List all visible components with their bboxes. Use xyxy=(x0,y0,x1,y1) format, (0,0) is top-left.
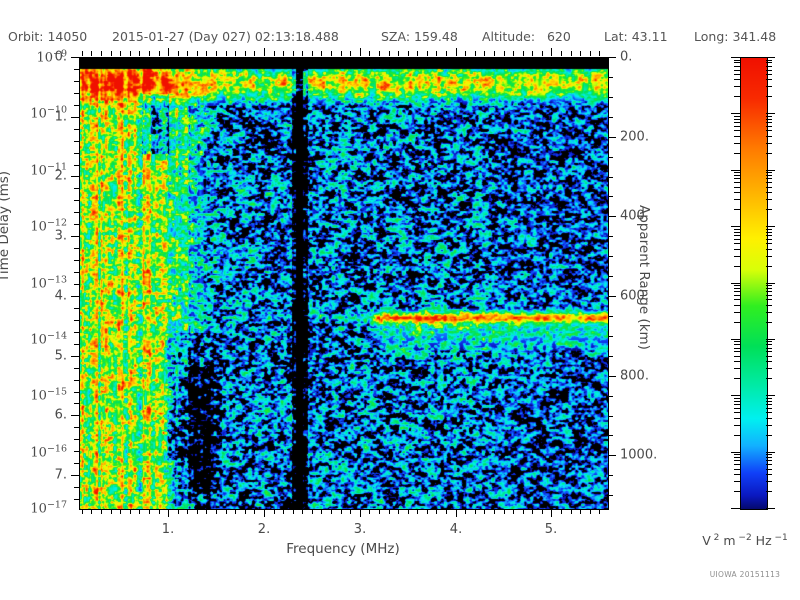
colorbar-tick-minor xyxy=(734,60,740,61)
colorbar-tick-minor xyxy=(734,454,740,455)
x-tick-minor-top xyxy=(82,51,83,56)
colorbar-tick-minor xyxy=(734,288,740,289)
y-tick-label-left: 5. xyxy=(55,349,67,364)
colorbar-tick-minor xyxy=(766,408,772,409)
y-tick-minor-left xyxy=(74,224,79,225)
x-tick-minor-top xyxy=(91,51,92,56)
colorbar-tick-minor xyxy=(734,425,740,426)
ionogram-page: Orbit: 14050 2015-01-27 (Day 027) 02:13:… xyxy=(0,0,800,600)
x-tick-major-top xyxy=(360,48,361,56)
x-tick-minor-top xyxy=(580,51,581,56)
colorbar-tick-minor xyxy=(734,66,740,67)
colorbar-tick-minor xyxy=(734,136,740,137)
colorbar-tick-minor xyxy=(766,378,772,379)
x-tick-minor-top xyxy=(235,51,236,56)
colorbar-tick-major xyxy=(731,395,740,396)
x-tick-minor xyxy=(427,509,428,514)
colorbar-tick-major xyxy=(731,170,740,171)
x-tick-minor-top xyxy=(274,51,275,56)
colorbar-tick-minor xyxy=(734,295,740,296)
y-tick-minor-left xyxy=(74,451,79,452)
colorbar-tick-minor xyxy=(766,305,772,306)
colorbar-tick-label: 10−16 xyxy=(30,443,67,460)
x-tick-major xyxy=(168,509,169,517)
x-tick-minor-top xyxy=(187,51,188,56)
colorbar-tick-minor xyxy=(734,175,740,176)
y-tick-minor-right xyxy=(608,77,613,78)
y-axis-title-right: Apparent Range (km) xyxy=(636,205,652,350)
y-tick-major-left xyxy=(71,236,79,237)
x-tick-minor xyxy=(226,509,227,514)
y-tick-minor-left xyxy=(74,141,79,142)
x-tick-minor-top xyxy=(350,51,351,56)
x-tick-label: 1. xyxy=(162,522,174,537)
colorbar-tick-major xyxy=(766,339,775,340)
x-tick-minor-top xyxy=(494,51,495,56)
y-tick-minor-left xyxy=(74,392,79,393)
colorbar-tick-minor xyxy=(766,229,772,230)
x-tick-minor xyxy=(197,509,198,514)
header-datetime: 2015-01-27 (Day 027) 02:13:18.488 xyxy=(112,29,339,44)
colorbar-tick-minor xyxy=(766,401,772,402)
x-tick-minor xyxy=(120,509,121,514)
colorbar-tick-minor xyxy=(734,312,740,313)
x-tick-minor-top xyxy=(475,51,476,56)
x-tick-minor xyxy=(312,509,313,514)
colorbar-tick-major xyxy=(766,57,775,58)
colorbar-tick-major xyxy=(731,283,740,284)
colorbar-tick-minor xyxy=(766,209,772,210)
y-tick-minor-left xyxy=(74,332,79,333)
colorbar-tick-minor xyxy=(766,425,772,426)
x-tick-minor-top xyxy=(245,51,246,56)
x-tick-minor xyxy=(408,509,409,514)
x-tick-major-top xyxy=(264,48,265,56)
y-tick-minor-right xyxy=(608,157,613,158)
y-tick-minor-right xyxy=(608,416,613,417)
colorbar-tick-minor xyxy=(734,435,740,436)
header-latitude: Lat: 43.11 xyxy=(604,29,668,44)
colorbar-tick-minor xyxy=(734,239,740,240)
x-tick-minor-top xyxy=(571,51,572,56)
x-tick-minor-top xyxy=(331,51,332,56)
x-tick-minor xyxy=(350,509,351,514)
x-tick-minor xyxy=(274,509,275,514)
colorbar-tick-minor xyxy=(766,175,772,176)
y-tick-minor-left xyxy=(74,427,79,428)
x-tick-minor-top xyxy=(417,51,418,56)
y-tick-minor-right xyxy=(608,475,613,476)
colorbar-tick-minor xyxy=(766,435,772,436)
colorbar-tick-label: 10−9 xyxy=(36,48,67,65)
y-tick-minor-left xyxy=(74,153,79,154)
colorbar-tick-minor xyxy=(734,199,740,200)
colorbar-tick-minor xyxy=(766,469,772,470)
ionogram-plot-area xyxy=(79,57,609,510)
colorbar-tick-minor xyxy=(734,398,740,399)
colorbar-tick-minor xyxy=(734,62,740,63)
colorbar-tick-minor xyxy=(766,291,772,292)
colorbar-tick-minor xyxy=(766,348,772,349)
x-tick-minor-top xyxy=(302,51,303,56)
y-tick-minor-left xyxy=(74,212,79,213)
colorbar-tick-minor xyxy=(766,62,772,63)
colorbar-tick-minor xyxy=(734,249,740,250)
colorbar-tick-minor xyxy=(766,235,772,236)
x-tick-minor xyxy=(484,509,485,514)
colorbar-tick-minor xyxy=(766,322,772,323)
colorbar-tick-minor xyxy=(766,295,772,296)
header-longitude: Long: 341.48 xyxy=(694,29,776,44)
x-tick-minor xyxy=(111,509,112,514)
x-tick-minor xyxy=(599,509,600,514)
colorbar-tick-minor xyxy=(766,288,772,289)
colorbar-tick-minor xyxy=(766,285,772,286)
colorbar-tick-minor xyxy=(766,122,772,123)
colorbar-tick-minor xyxy=(734,341,740,342)
x-tick-minor xyxy=(417,509,418,514)
y-tick-minor-left xyxy=(74,499,79,500)
x-tick-label: 2. xyxy=(258,522,270,537)
y-tick-minor-left xyxy=(74,320,79,321)
y-tick-minor-right xyxy=(608,435,613,436)
x-tick-minor xyxy=(504,509,505,514)
x-tick-minor-top xyxy=(379,51,380,56)
colorbar xyxy=(740,57,768,510)
x-tick-minor-top xyxy=(436,51,437,56)
y-tick-minor-left xyxy=(74,81,79,82)
colorbar-tick-minor xyxy=(734,285,740,286)
colorbar-tick-minor xyxy=(734,322,740,323)
colorbar-tick-minor xyxy=(734,70,740,71)
x-tick-minor xyxy=(91,509,92,514)
colorbar-tick-minor xyxy=(734,126,740,127)
x-tick-minor-top xyxy=(120,51,121,56)
colorbar-tick-label: 10−11 xyxy=(30,161,67,178)
x-tick-minor xyxy=(446,509,447,514)
colorbar-tick-minor xyxy=(734,235,740,236)
x-tick-minor-top xyxy=(599,51,600,56)
y-tick-minor-right xyxy=(608,256,613,257)
y-tick-minor-right xyxy=(608,336,613,337)
colorbar-tick-minor xyxy=(734,209,740,210)
x-tick-minor-top xyxy=(111,51,112,56)
y-tick-minor-right xyxy=(608,97,613,98)
y-tick-minor-left xyxy=(74,188,79,189)
colorbar-tick-minor xyxy=(766,481,772,482)
colorbar-tick-minor xyxy=(734,464,740,465)
x-tick-minor-top xyxy=(149,51,150,56)
x-tick-minor-top xyxy=(321,51,322,56)
colorbar-tick-major xyxy=(731,226,740,227)
colorbar-tick-minor xyxy=(734,116,740,117)
x-tick-minor xyxy=(302,509,303,514)
colorbar-tick-minor xyxy=(734,229,740,230)
y-tick-minor-left xyxy=(74,380,79,381)
y-tick-major-left xyxy=(71,415,79,416)
x-tick-minor-top xyxy=(446,51,447,56)
colorbar-tick-major xyxy=(766,508,775,509)
y-tick-major-right xyxy=(608,455,616,456)
y-tick-label-right: 0. xyxy=(620,50,632,65)
x-tick-label: 5. xyxy=(545,522,557,537)
colorbar-tick-minor xyxy=(766,187,772,188)
y-tick-label-left: 7. xyxy=(55,468,67,483)
x-tick-minor xyxy=(149,509,150,514)
colorbar-tick-minor xyxy=(734,130,740,131)
x-tick-minor-top xyxy=(513,51,514,56)
colorbar-tick-minor xyxy=(766,344,772,345)
x-tick-minor-top xyxy=(197,51,198,56)
x-tick-minor xyxy=(571,509,572,514)
y-tick-minor-right xyxy=(608,396,613,397)
colorbar-tick-minor xyxy=(734,256,740,257)
y-tick-minor-left xyxy=(74,272,79,273)
y-tick-major-left xyxy=(71,176,79,177)
spectrogram-canvas xyxy=(80,58,608,509)
y-tick-minor-left xyxy=(74,248,79,249)
colorbar-tick-minor xyxy=(766,266,772,267)
y-tick-minor-left xyxy=(74,129,79,130)
colorbar-tick-minor xyxy=(734,291,740,292)
x-tick-minor xyxy=(475,509,476,514)
x-tick-minor-top xyxy=(216,51,217,56)
y-tick-minor-left xyxy=(74,260,79,261)
colorbar-tick-minor xyxy=(734,412,740,413)
colorbar-tick-minor xyxy=(734,474,740,475)
x-tick-minor-top xyxy=(254,51,255,56)
x-tick-minor xyxy=(494,509,495,514)
colorbar-tick-minor xyxy=(734,457,740,458)
colorbar-tick-minor xyxy=(734,404,740,405)
colorbar-tick-minor xyxy=(734,96,740,97)
x-tick-minor xyxy=(178,509,179,514)
colorbar-tick-minor xyxy=(766,172,772,173)
y-tick-minor-right xyxy=(608,236,613,237)
colorbar-tick-minor xyxy=(766,130,772,131)
x-tick-minor xyxy=(206,509,207,514)
colorbar-tick-minor xyxy=(766,256,772,257)
y-tick-label-right: 1000. xyxy=(620,448,657,463)
x-tick-minor-top xyxy=(369,51,370,56)
colorbar-tick-minor xyxy=(766,412,772,413)
x-tick-minor xyxy=(398,509,399,514)
x-tick-minor xyxy=(590,509,591,514)
y-tick-major-right xyxy=(608,376,616,377)
colorbar-tick-minor xyxy=(734,351,740,352)
x-tick-minor xyxy=(532,509,533,514)
unit-v: V 2 xyxy=(702,533,719,548)
x-tick-minor-top xyxy=(293,51,294,56)
y-tick-minor-right xyxy=(608,495,613,496)
y-tick-major-left xyxy=(71,57,79,58)
x-tick-minor xyxy=(369,509,370,514)
y-axis-title-left: Time Delay (ms) xyxy=(0,171,12,282)
colorbar-tick-minor xyxy=(766,361,772,362)
colorbar-tick-minor xyxy=(734,460,740,461)
colorbar-tick-minor xyxy=(766,116,772,117)
colorbar-tick-minor xyxy=(766,136,772,137)
x-tick-minor xyxy=(321,509,322,514)
x-tick-minor-top xyxy=(226,51,227,56)
x-tick-minor xyxy=(235,509,236,514)
colorbar-tick-minor xyxy=(734,178,740,179)
colorbar-tick-minor xyxy=(766,356,772,357)
y-tick-major-right xyxy=(608,57,616,58)
x-tick-minor xyxy=(561,509,562,514)
y-tick-major-right xyxy=(608,296,616,297)
x-tick-minor-top xyxy=(465,51,466,56)
y-tick-minor-left xyxy=(74,344,79,345)
x-tick-minor-top xyxy=(504,51,505,56)
colorbar-tick-minor xyxy=(734,491,740,492)
colorbar-tick-minor xyxy=(766,243,772,244)
colorbar-tick-minor xyxy=(766,474,772,475)
x-tick-minor xyxy=(523,509,524,514)
x-tick-minor xyxy=(331,509,332,514)
x-tick-minor-top xyxy=(283,51,284,56)
colorbar-tick-minor xyxy=(734,74,740,75)
x-tick-major-top xyxy=(551,48,552,56)
y-tick-minor-right xyxy=(608,276,613,277)
y-tick-minor-right xyxy=(608,196,613,197)
x-tick-minor xyxy=(580,509,581,514)
x-tick-minor xyxy=(379,509,380,514)
colorbar-tick-major xyxy=(766,283,775,284)
header-altitude: Altitude: 620 xyxy=(482,29,571,44)
colorbar-tick-minor xyxy=(766,119,772,120)
x-tick-minor xyxy=(101,509,102,514)
colorbar-tick-minor xyxy=(766,464,772,465)
colorbar-tick-minor xyxy=(734,305,740,306)
x-tick-major xyxy=(360,509,361,517)
x-tick-minor xyxy=(216,509,217,514)
colorbar-tick-minor xyxy=(766,192,772,193)
colorbar-tick-minor xyxy=(766,418,772,419)
x-tick-minor xyxy=(513,509,514,514)
colorbar-tick-major xyxy=(766,452,775,453)
x-tick-minor-top xyxy=(532,51,533,56)
x-axis-title: Frequency (MHz) xyxy=(0,541,686,557)
y-tick-minor-right xyxy=(608,117,613,118)
colorbar-tick-major xyxy=(731,339,740,340)
x-tick-minor xyxy=(283,509,284,514)
x-tick-minor xyxy=(245,509,246,514)
x-tick-minor-top xyxy=(130,51,131,56)
y-tick-minor-left xyxy=(74,439,79,440)
x-tick-minor xyxy=(159,509,160,514)
colorbar-tick-minor xyxy=(766,153,772,154)
x-tick-minor-top xyxy=(178,51,179,56)
colorbar-tick-minor xyxy=(766,66,772,67)
colorbar-tick-minor xyxy=(766,460,772,461)
y-tick-minor-left xyxy=(74,463,79,464)
colorbar-tick-major xyxy=(731,113,740,114)
colorbar-tick-minor xyxy=(766,239,772,240)
y-tick-label-left: 6. xyxy=(55,408,67,423)
x-tick-minor xyxy=(542,509,543,514)
colorbar-tick-label: 10−17 xyxy=(30,499,67,516)
colorbar-tick-major xyxy=(731,57,740,58)
y-tick-minor-left xyxy=(74,284,79,285)
x-tick-major xyxy=(264,509,265,517)
x-tick-minor-top xyxy=(159,51,160,56)
y-tick-label-right: 800. xyxy=(620,369,649,384)
colorbar-tick-minor xyxy=(766,457,772,458)
header-sza: SZA: 159.48 xyxy=(381,29,458,44)
x-tick-minor xyxy=(139,509,140,514)
colorbar-tick-minor xyxy=(734,122,740,123)
x-tick-minor-top xyxy=(561,51,562,56)
colorbar-tick-minor xyxy=(766,341,772,342)
y-tick-minor-right xyxy=(608,356,613,357)
y-tick-minor-left xyxy=(74,165,79,166)
x-tick-minor-top xyxy=(341,51,342,56)
y-tick-major-left xyxy=(71,117,79,118)
y-tick-minor-left xyxy=(74,200,79,201)
colorbar-tick-minor xyxy=(766,178,772,179)
colorbar-tick-minor xyxy=(766,299,772,300)
y-tick-major-left xyxy=(71,356,79,357)
x-tick-major-top xyxy=(168,48,169,56)
x-tick-minor-top xyxy=(101,51,102,56)
colorbar-tick-minor xyxy=(734,86,740,87)
y-tick-minor-right xyxy=(608,316,613,317)
x-tick-minor xyxy=(254,509,255,514)
x-tick-minor-top xyxy=(206,51,207,56)
colorbar-tick-minor xyxy=(766,232,772,233)
colorbar-tick-minor xyxy=(734,266,740,267)
x-tick-major-top xyxy=(456,48,457,56)
colorbar-tick-minor xyxy=(766,249,772,250)
colorbar-tick-minor xyxy=(734,418,740,419)
header-orbit: Orbit: 14050 xyxy=(8,29,87,44)
colorbar-tick-minor xyxy=(734,361,740,362)
colorbar-tick-minor xyxy=(734,368,740,369)
x-tick-minor-top xyxy=(408,51,409,56)
colorbar-tick-minor xyxy=(734,153,740,154)
colorbar-tick-minor xyxy=(734,344,740,345)
colorbar-tick-minor xyxy=(766,368,772,369)
colorbar-tick-minor xyxy=(734,243,740,244)
y-tick-major-right xyxy=(608,216,616,217)
x-tick-minor-top xyxy=(139,51,140,56)
x-tick-minor xyxy=(465,509,466,514)
colorbar-tick-major xyxy=(731,452,740,453)
unit-m: m −2 xyxy=(723,533,751,548)
x-tick-minor-top xyxy=(523,51,524,56)
colorbar-tick-label: 10−12 xyxy=(30,217,67,234)
y-tick-minor-left xyxy=(74,93,79,94)
colorbar-tick-minor xyxy=(766,182,772,183)
x-tick-minor-top xyxy=(427,51,428,56)
colorbar-tick-label: 10−14 xyxy=(30,330,67,347)
y-tick-minor-left xyxy=(74,403,79,404)
y-tick-major-left xyxy=(71,296,79,297)
y-tick-major-left xyxy=(71,475,79,476)
x-tick-minor xyxy=(389,509,390,514)
colorbar-tick-major xyxy=(766,170,775,171)
colorbar-tick-minor xyxy=(766,351,772,352)
y-tick-label-right: 200. xyxy=(620,130,649,145)
colorbar-tick-minor xyxy=(734,469,740,470)
colorbar-tick-minor xyxy=(766,398,772,399)
x-tick-minor-top xyxy=(398,51,399,56)
colorbar-tick-major xyxy=(731,508,740,509)
colorbar-tick-minor xyxy=(766,60,772,61)
colorbar-tick-minor xyxy=(734,143,740,144)
colorbar-tick-label: 10−13 xyxy=(30,274,67,291)
